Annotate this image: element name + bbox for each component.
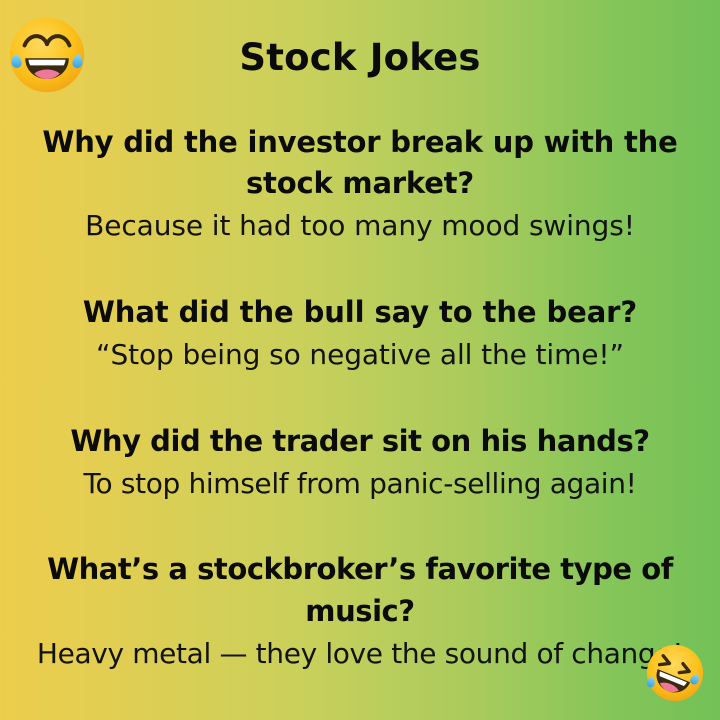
joke-item: Why did the investor break up with the s… bbox=[18, 122, 702, 247]
joke-answer: Because it had too many mood swings! bbox=[18, 206, 702, 247]
joke-question: What’s a stockbroker’s favorite type of … bbox=[18, 549, 702, 631]
joke-question: Why did the trader sit on his hands? bbox=[18, 421, 702, 462]
joke-item: Why did the trader sit on his hands? To … bbox=[18, 421, 702, 505]
joke-answer: To stop himself from panic-selling again… bbox=[18, 464, 702, 505]
stock-jokes-poster: Stock Jokes Why did the investor break u… bbox=[0, 0, 720, 720]
rolling-on-the-floor-laughing-icon bbox=[644, 642, 706, 704]
joke-answer: Heavy metal — they love the sound of cha… bbox=[18, 634, 702, 675]
joke-question: Why did the investor break up with the s… bbox=[18, 122, 702, 204]
joke-question: What did the bull say to the bear? bbox=[18, 292, 702, 333]
jokes-list: Why did the investor break up with the s… bbox=[18, 122, 702, 674]
joke-item: What’s a stockbroker’s favorite type of … bbox=[18, 549, 702, 674]
joke-item: What did the bull say to the bear? “Stop… bbox=[18, 292, 702, 376]
joke-answer: “Stop being so negative all the time!” bbox=[18, 335, 702, 376]
page-title: Stock Jokes bbox=[0, 36, 720, 79]
